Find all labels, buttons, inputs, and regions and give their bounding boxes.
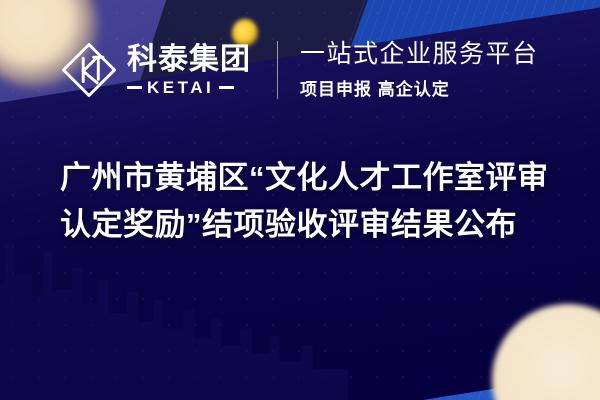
tagline-block: 一站式企业服务平台 项目申报 高企认定: [300, 40, 539, 100]
brand-wordmark: 科泰集团 KETAI: [127, 44, 251, 96]
tagline-sub: 项目申报 高企认定: [300, 75, 539, 100]
promo-banner: 科泰集团 KETAI 一站式企业服务平台 项目申报 高企认定 广州市黄埔区“文化…: [0, 0, 600, 400]
brand-name-chinese: 科泰集团: [127, 44, 251, 76]
brand-name-english: KETAI: [147, 79, 214, 96]
tagline-main: 一站式企业服务平台: [300, 40, 539, 69]
brand-header: 科泰集团 KETAI 一站式企业服务平台 项目申报 高企认定: [60, 40, 539, 100]
dash-left-icon: [127, 86, 142, 89]
brand-name-english-row: KETAI: [127, 79, 251, 96]
ketai-diamond-kt-monogram-icon: [60, 41, 118, 99]
vertical-divider: [277, 41, 278, 99]
dash-right-icon: [219, 86, 234, 89]
page-title: 广州市黄埔区“文化人才工作室评审认定奖励”结项验收评审结果公布: [60, 155, 565, 248]
